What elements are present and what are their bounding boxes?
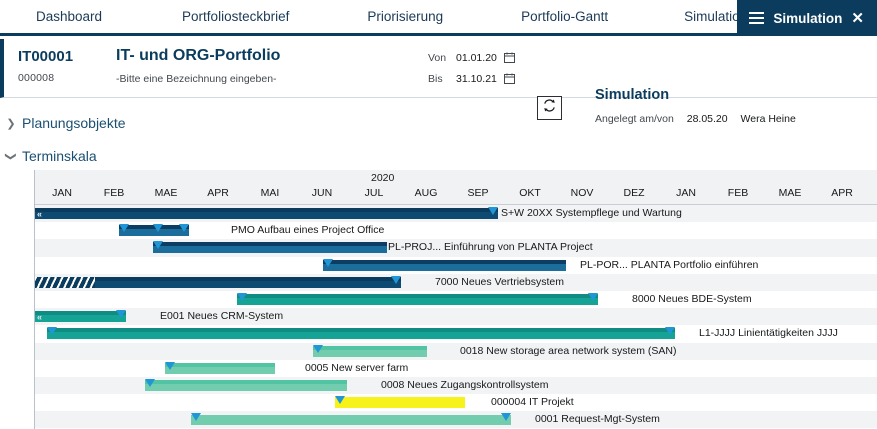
gantt-bar[interactable]	[145, 380, 347, 391]
timescale-month: NOV	[555, 187, 609, 199]
gantt-row[interactable]: «S+W 20XX Systempflege und Wartung	[35, 205, 877, 222]
gantt-bar[interactable]	[35, 277, 401, 288]
gantt-row[interactable]: 7000 Neues Vertriebsystem	[35, 274, 877, 291]
timescale-month: DEZ	[607, 187, 661, 199]
gantt-bar[interactable]	[153, 242, 387, 253]
gantt-end-marker[interactable]	[588, 293, 598, 301]
gantt-bar-label: 0008 Neues Zugangskontrollsystem	[381, 379, 549, 391]
close-icon[interactable]: ✕	[851, 11, 864, 26]
timescale-month: JAN	[35, 187, 89, 199]
gantt-bar[interactable]: «	[35, 208, 498, 219]
gantt-row[interactable]: «E001 Neues CRM-System	[35, 308, 877, 325]
object-header: IT00001 000008 IT- und ORG-Portfolio -Bi…	[0, 39, 877, 98]
gantt-start-marker[interactable]	[313, 345, 323, 353]
gantt-start-marker[interactable]	[335, 396, 345, 404]
gantt-bar-label: 0001 Request-Mgt-System	[535, 413, 660, 425]
gantt-row[interactable]: 0005 New server farm	[35, 360, 877, 377]
gantt-rows[interactable]: «S+W 20XX Systempflege und WartungPMO Au…	[35, 205, 877, 429]
gantt-bar-body	[153, 246, 387, 253]
gantt-start-marker[interactable]	[153, 241, 163, 249]
gantt-bar-body	[35, 315, 126, 322]
calendar-icon[interactable]	[504, 52, 515, 63]
gantt-bar-label: L1-JJJJ Linientätigkeiten JJJJ	[699, 327, 838, 339]
gantt-end-marker[interactable]	[179, 224, 189, 232]
gantt-bar[interactable]	[335, 397, 465, 408]
nav-item-priorisierung[interactable]: Priorisierung	[353, 0, 457, 35]
gantt-start-marker[interactable]	[47, 327, 57, 335]
gantt-bar-body	[191, 415, 511, 425]
gantt-start-marker[interactable]	[323, 259, 333, 267]
gantt-timescale-header: 2020JANFEBMAEAPRMAIJUNJULAUGSEPOKTNOVDEZ…	[35, 170, 877, 205]
gantt-bar[interactable]: «	[35, 311, 126, 322]
timescale-month: JAN	[659, 187, 713, 199]
timescale-month: MAI	[243, 187, 297, 199]
timescale-month: APR	[191, 187, 245, 199]
gantt-start-marker[interactable]	[191, 413, 201, 421]
gantt-bar[interactable]	[165, 363, 275, 374]
gantt-bar[interactable]	[191, 414, 511, 425]
gantt-bar-label: PL-POR... PLANTA Portfolio einführen	[580, 259, 758, 271]
date-to-label: Bis	[428, 73, 456, 85]
section-terminskala[interactable]: ❯ Terminskala	[0, 141, 877, 171]
gantt-row[interactable]: L1-JJJJ Linientätigkeiten JJJJ	[35, 325, 877, 342]
gantt-bar-label: 0018 New storage area network system (SA…	[460, 345, 677, 357]
gantt-end-marker[interactable]	[501, 413, 511, 421]
timescale-month: SEP	[451, 187, 505, 199]
gantt-bar-body	[335, 401, 465, 408]
gantt-end-marker[interactable]	[665, 327, 675, 335]
timescale-month: APR	[815, 187, 869, 199]
timescale-month: FEB	[711, 187, 765, 199]
gantt-end-marker[interactable]	[488, 207, 498, 215]
gantt-row[interactable]: 0018 New storage area network system (SA…	[35, 343, 877, 360]
gantt-start-marker[interactable]	[165, 362, 175, 370]
page-title: IT- und ORG-Portfolio	[116, 47, 280, 65]
date-from-row: Von 01.01.20	[428, 47, 538, 68]
page-subtitle[interactable]: -Bitte eine Bezeichnung eingeben-	[116, 73, 277, 85]
gantt-bar-body	[237, 298, 598, 305]
hamburger-icon[interactable]	[749, 12, 764, 24]
gantt-start-marker[interactable]	[237, 293, 247, 301]
scroll-left-indicator[interactable]: «	[37, 312, 41, 322]
timescale-year: 2020	[371, 172, 394, 184]
gantt-start-marker[interactable]	[145, 379, 155, 387]
gantt-row[interactable]: 8000 Neues BDE-System	[35, 291, 877, 308]
gantt-bar[interactable]	[47, 328, 675, 339]
section-label: Planungsobjekte	[22, 115, 126, 131]
gantt-bar[interactable]	[323, 260, 566, 271]
timescale-month: FEB	[87, 187, 141, 199]
section-label: Terminskala	[22, 148, 97, 164]
date-from-label: Von	[428, 52, 456, 64]
gantt-row[interactable]: 0001 Request-Mgt-System	[35, 411, 877, 428]
calendar-icon[interactable]	[504, 73, 515, 84]
section-planungsobjekte[interactable]: ❯ Planungsobjekte	[0, 108, 877, 138]
nav-item-portfolio-gantt[interactable]: Portfolio-Gantt	[507, 0, 622, 35]
gantt-bar-label: 8000 Neues BDE-System	[632, 293, 752, 305]
gantt-row[interactable]: 000004 IT Projekt	[35, 394, 877, 411]
gantt-end-marker[interactable]	[116, 310, 126, 318]
gantt-chart[interactable]: 2020JANFEBMAEAPRMAIJUNJULAUGSEPOKTNOVDEZ…	[34, 170, 877, 429]
gantt-end-marker[interactable]	[391, 276, 401, 284]
date-to-value[interactable]: 31.10.21	[456, 73, 504, 85]
header-id: IT00001	[18, 48, 73, 65]
gantt-bar-label: 000004 IT Projekt	[491, 396, 574, 408]
gantt-bar-label: 7000 Neues Vertriebsystem	[435, 276, 564, 288]
gantt-row[interactable]: PL-POR... PLANTA Portfolio einführen	[35, 257, 877, 274]
top-navigation: Dashboard Portfoliosteckbrief Priorisier…	[0, 0, 877, 36]
gantt-bar[interactable]	[237, 294, 598, 305]
gantt-row[interactable]: PMO Aufbau eines Project Office	[35, 222, 877, 239]
nav-item-portfoliosteckbrief[interactable]: Portfoliosteckbrief	[168, 0, 303, 35]
chevron-down-icon[interactable]: ❯	[5, 145, 18, 167]
chevron-right-icon[interactable]: ❯	[0, 117, 22, 130]
gantt-start-marker[interactable]	[119, 224, 129, 232]
gantt-bar-body	[313, 350, 427, 357]
gantt-bar-body	[145, 384, 347, 391]
active-tab-label: Simulation	[773, 11, 842, 26]
timescale-month: MAE	[763, 187, 817, 199]
gantt-bar-label: E001 Neues CRM-System	[160, 310, 283, 322]
simulation-title: Simulation	[595, 87, 669, 103]
gantt-bar-body	[35, 212, 498, 219]
timescale-month: JUN	[295, 187, 349, 199]
gantt-row[interactable]: 0008 Neues Zugangskontrollsystem	[35, 377, 877, 394]
timescale-month: AUG	[399, 187, 453, 199]
timescale-month: OKT	[503, 187, 557, 199]
date-from-value[interactable]: 01.01.20	[456, 52, 504, 64]
gantt-mid-marker[interactable]	[153, 224, 163, 232]
gantt-bar-label: 0005 New server farm	[305, 362, 408, 374]
app-root: Dashboard Portfoliosteckbrief Priorisier…	[0, 0, 877, 429]
gantt-bar-body	[165, 367, 275, 374]
gantt-bar-label: PMO Aufbau eines Project Office	[231, 224, 384, 236]
gantt-bar-label: S+W 20XX Systempflege und Wartung	[501, 207, 682, 219]
gantt-bar-body	[323, 264, 566, 271]
gantt-bar[interactable]	[313, 346, 427, 357]
gantt-bar-body	[47, 332, 675, 339]
gantt-bar-label: PL-PROJ... Einführung von PLANTA Project	[388, 241, 593, 253]
gantt-bar-hatched-segment	[35, 277, 95, 288]
scroll-left-indicator[interactable]: «	[37, 209, 41, 219]
date-range-group: Von 01.01.20 Bis 31.10.21	[428, 47, 538, 89]
date-to-row: Bis 31.10.21	[428, 68, 538, 89]
header-sub-id: 000008	[18, 72, 54, 84]
timescale-month: MAE	[139, 187, 193, 199]
gantt-row[interactable]: PL-PROJ... Einführung von PLANTA Project	[35, 239, 877, 256]
active-tab-simulation[interactable]: Simulation ✕	[737, 0, 877, 36]
timescale-month: JUL	[347, 187, 401, 199]
nav-item-dashboard[interactable]: Dashboard	[22, 0, 116, 35]
